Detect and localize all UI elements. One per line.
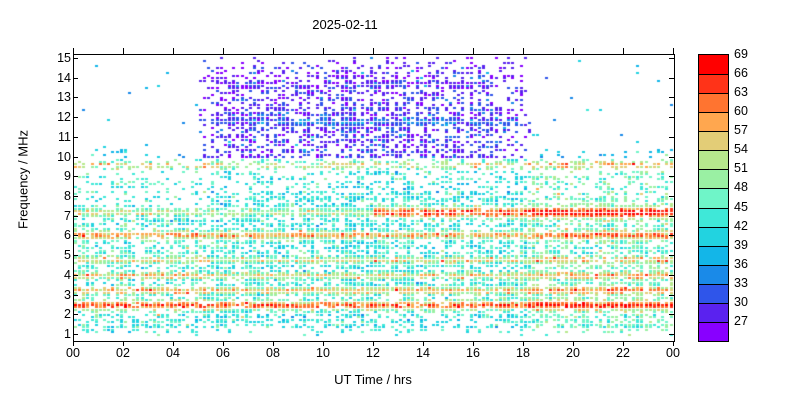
colorbar-tick-label: 30 — [734, 295, 762, 309]
y-tick-label: 13 — [25, 91, 71, 103]
colorbar-band — [699, 208, 728, 227]
y-tick-mark-right — [669, 58, 674, 59]
figure-root: 2025-02-11 Frequency / MHz 1234567891011… — [0, 0, 800, 400]
y-tick-mark-right — [669, 295, 674, 296]
x-tick-mark — [223, 341, 224, 346]
y-tick-mark-right — [669, 137, 674, 138]
x-tick-label: 20 — [553, 346, 593, 360]
y-tick-label: 9 — [25, 170, 71, 182]
colorbar-band — [699, 169, 728, 188]
x-tick-mark — [73, 341, 74, 346]
y-tick-mark — [73, 58, 78, 59]
y-tick-mark-right — [669, 314, 674, 315]
colorbar-tick-label: 42 — [734, 219, 762, 233]
colorbar-separator — [699, 303, 728, 304]
y-tick-mark-right — [669, 235, 674, 236]
y-tick-mark — [73, 314, 78, 315]
colorbar-band — [699, 93, 728, 112]
y-tick-label: 6 — [25, 229, 71, 241]
x-tick-mark — [573, 341, 574, 346]
y-tick-mark — [73, 295, 78, 296]
colorbar-tick-label: 39 — [734, 238, 762, 252]
colorbar-band — [699, 150, 728, 169]
y-axis-ticks: 123456789101112131415 — [0, 54, 71, 342]
colorbar-separator — [699, 284, 728, 285]
y-tick-mark-right — [669, 196, 674, 197]
y-tick-mark — [73, 157, 78, 158]
y-tick-mark-right — [669, 216, 674, 217]
colorbar-band — [699, 246, 728, 265]
plot-area — [73, 54, 675, 342]
x-tick-label: 00 — [53, 346, 93, 360]
x-tick-label: 04 — [153, 346, 193, 360]
y-tick-mark-right — [669, 275, 674, 276]
y-tick-label: 12 — [25, 111, 71, 123]
x-tick-mark — [623, 341, 624, 346]
colorbar-separator — [699, 150, 728, 151]
x-tick-mark — [123, 341, 124, 346]
x-tick-mark-top — [423, 48, 424, 54]
x-tick-mark — [423, 341, 424, 346]
colorbar-separator — [699, 93, 728, 94]
x-tick-mark-top — [473, 48, 474, 54]
x-tick-mark-top — [373, 48, 374, 54]
colorbar-band — [699, 55, 728, 74]
x-tick-mark — [523, 341, 524, 346]
x-tick-mark — [673, 341, 674, 346]
colorbar-tick-label: 33 — [734, 276, 762, 290]
x-tick-label: 14 — [403, 346, 443, 360]
y-tick-mark — [73, 97, 78, 98]
y-tick-label: 1 — [25, 328, 71, 340]
y-tick-mark — [73, 255, 78, 256]
colorbar-band — [699, 284, 728, 303]
y-tick-mark — [73, 235, 78, 236]
x-tick-mark — [173, 341, 174, 346]
colorbar-separator — [699, 227, 728, 228]
colorbar-band — [699, 131, 728, 150]
y-tick-label: 3 — [25, 289, 71, 301]
colorbar-tick-label: 48 — [734, 180, 762, 194]
colorbar-tick-label: 63 — [734, 85, 762, 99]
x-tick-mark — [473, 341, 474, 346]
y-tick-mark — [73, 275, 78, 276]
x-tick-mark-top — [73, 48, 74, 54]
colorbar-separator — [699, 74, 728, 75]
y-tick-label: 8 — [25, 190, 71, 202]
y-tick-mark-right — [669, 176, 674, 177]
x-tick-mark-top — [123, 48, 124, 54]
x-tick-label: 02 — [103, 346, 143, 360]
y-tick-mark-right — [669, 117, 674, 118]
colorbar-separator — [699, 112, 728, 113]
colorbar-band — [699, 112, 728, 131]
x-tick-label: 18 — [503, 346, 543, 360]
y-tick-label: 14 — [25, 72, 71, 84]
spectrogram-canvas — [74, 55, 674, 341]
x-tick-mark — [373, 341, 374, 346]
colorbar-band — [699, 74, 728, 93]
x-tick-mark — [273, 341, 274, 346]
colorbar-tick-label: 60 — [734, 104, 762, 118]
y-tick-mark-right — [669, 157, 674, 158]
x-tick-mark-top — [173, 48, 174, 54]
colorbar-separator — [699, 265, 728, 266]
y-tick-mark — [73, 196, 78, 197]
x-tick-label: 22 — [603, 346, 643, 360]
colorbar-tick-label: 54 — [734, 142, 762, 156]
x-tick-mark-top — [673, 48, 674, 54]
y-tick-label: 2 — [25, 308, 71, 320]
colorbar — [698, 54, 729, 342]
y-tick-mark — [73, 117, 78, 118]
colorbar-separator — [699, 131, 728, 132]
y-tick-mark-right — [669, 78, 674, 79]
y-tick-label: 11 — [25, 131, 71, 143]
colorbar-tick-label: 27 — [734, 314, 762, 328]
x-tick-mark-top — [273, 48, 274, 54]
x-tick-mark — [323, 341, 324, 346]
colorbar-tick-label: 69 — [734, 47, 762, 61]
colorbar-band — [699, 188, 728, 207]
x-tick-label: 10 — [303, 346, 343, 360]
y-tick-label: 4 — [25, 269, 71, 281]
colorbar-separator — [699, 322, 728, 323]
y-tick-mark — [73, 216, 78, 217]
colorbar-separator — [699, 246, 728, 247]
y-tick-mark — [73, 176, 78, 177]
x-tick-mark-top — [573, 48, 574, 54]
colorbar-separator — [699, 169, 728, 170]
x-axis-title: UT Time / hrs — [73, 372, 673, 387]
colorbar-tick-label: 36 — [734, 257, 762, 271]
y-tick-mark — [73, 137, 78, 138]
colorbar-tick-label: 51 — [734, 161, 762, 175]
y-tick-mark — [73, 334, 78, 335]
y-tick-label: 10 — [25, 151, 71, 163]
x-tick-label: 06 — [203, 346, 243, 360]
y-tick-label: 7 — [25, 210, 71, 222]
colorbar-tick-label: 45 — [734, 200, 762, 214]
colorbar-separator — [699, 208, 728, 209]
colorbar-band — [699, 322, 728, 341]
y-tick-mark-right — [669, 334, 674, 335]
colorbar-tick-label: 57 — [734, 123, 762, 137]
page-title: 2025-02-11 — [0, 17, 690, 32]
x-tick-mark-top — [323, 48, 324, 54]
x-tick-mark-top — [523, 48, 524, 54]
y-tick-label: 5 — [25, 249, 71, 261]
colorbar-band — [699, 303, 728, 322]
x-tick-label: 16 — [453, 346, 493, 360]
x-tick-mark-top — [223, 48, 224, 54]
colorbar-band — [699, 265, 728, 284]
x-tick-label: 08 — [253, 346, 293, 360]
colorbar-band — [699, 227, 728, 246]
colorbar-separator — [699, 188, 728, 189]
x-tick-mark-top — [623, 48, 624, 54]
x-tick-label: 12 — [353, 346, 393, 360]
x-tick-label: 00 — [653, 346, 693, 360]
y-tick-label: 15 — [25, 52, 71, 64]
y-tick-mark-right — [669, 97, 674, 98]
y-tick-mark — [73, 78, 78, 79]
colorbar-tick-label: 66 — [734, 66, 762, 80]
y-tick-mark-right — [669, 255, 674, 256]
